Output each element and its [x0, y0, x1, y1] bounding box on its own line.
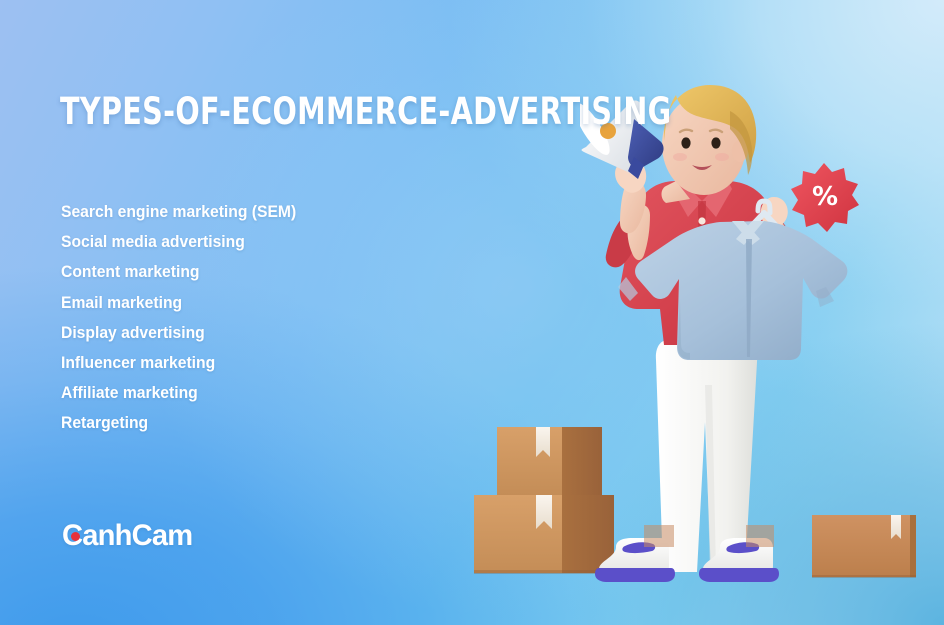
list-item: Retargeting	[61, 408, 460, 438]
page-title: TYPES-OF-ECOMMERCE-ADVERTISING	[60, 90, 672, 134]
logo-dot-icon	[71, 532, 80, 541]
list-item: Affiliate marketing	[61, 378, 460, 408]
canhcam-logo[interactable]: CanhCam	[62, 519, 196, 553]
list-item: Content marketing	[61, 257, 460, 287]
list-item: Email marketing	[61, 288, 460, 318]
list-item: Social media advertising	[61, 227, 460, 257]
banner-canvas: % TYPES-OF-ECOMMERCE-ADVERTISING Search …	[0, 0, 944, 625]
list-item: Influencer marketing	[61, 348, 460, 378]
advertising-types-list: Search engine marketing (SEM) Social med…	[61, 197, 481, 439]
list-item: Display advertising	[61, 318, 460, 348]
list-item: Search engine marketing (SEM)	[61, 197, 460, 227]
logo-text: CanhCam	[62, 519, 192, 553]
